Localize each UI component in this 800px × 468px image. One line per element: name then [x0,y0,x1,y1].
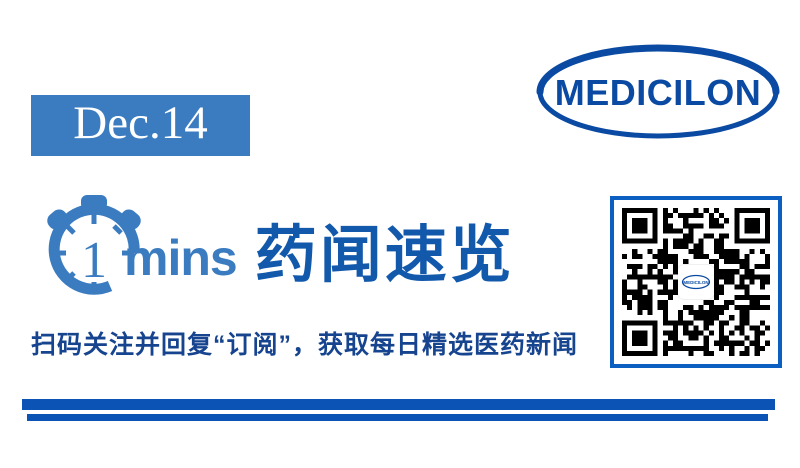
qr-center-logo-badge: MEDICILON [678,265,714,299]
date-banner-text: Dec.14 [73,100,207,151]
poster-canvas: Dec.14 MEDICILON [0,0,800,468]
bottom-rule-thin [27,414,768,421]
subtitle-text: 扫码关注并回复“订阅”，获取每日精选医药新闻 [31,325,591,361]
logo-wordmark: MEDICILON [555,72,762,113]
qr-badge-wordmark: MEDICILON [683,280,708,285]
headline-title: 药闻速览 [255,204,515,294]
medicilon-logo: MEDICILON [534,40,782,144]
headline-row: 1 mins 药闻速览 [38,188,515,306]
date-banner: Dec.14 [31,95,250,156]
bottom-rule-thick [22,399,775,410]
minutes-unit-label: mins [124,229,237,287]
qr-code-block[interactable]: MEDICILON [610,196,782,368]
stopwatch-number: 1 [81,232,107,289]
qr-code-image: MEDICILON [622,208,770,356]
